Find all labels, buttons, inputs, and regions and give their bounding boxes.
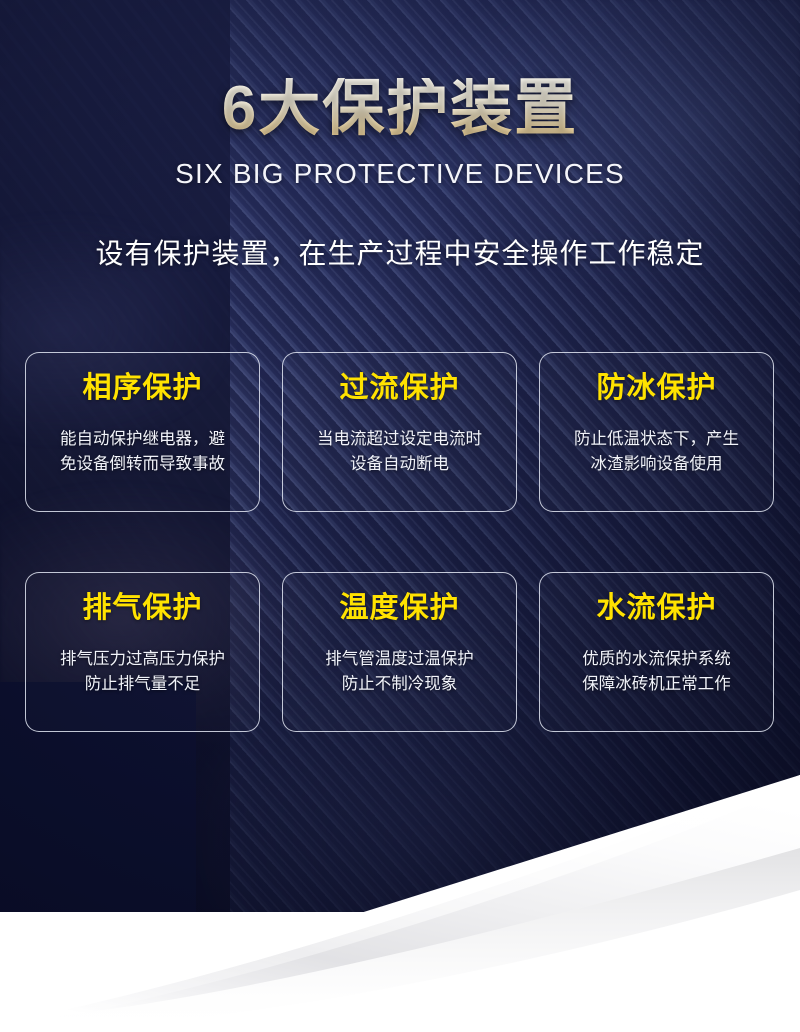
feature-card-description: 能自动保护继电器，避 免设备倒转而导致事故 — [52, 427, 233, 478]
promo-page: 6大保护装置 SIX BIG PROTECTIVE DEVICES 设有保护装置… — [0, 0, 800, 1032]
feature-card[interactable]: 排气保护 排气压力过高压力保护 防止排气量不足 — [25, 572, 260, 732]
feature-card[interactable]: 温度保护 排气管温度过温保护 防止不制冷现象 — [282, 572, 517, 732]
feature-card-title: 水流保护 — [596, 593, 716, 625]
feature-card[interactable]: 过流保护 当电流超过设定电流时 设备自动断电 — [282, 352, 517, 512]
feature-card-description: 防止低温状态下，产生 冰渣影响设备使用 — [566, 427, 747, 478]
page-tagline: 设有保护装置，在生产过程中安全操作工作稳定 — [0, 232, 800, 272]
feature-card-grid: 相序保护 能自动保护继电器，避 免设备倒转而导致事故 过流保护 当电流超过设定电… — [25, 352, 775, 732]
page-subtitle-english: SIX BIG PROTECTIVE DEVICES — [0, 158, 800, 190]
feature-card-title: 温度保护 — [339, 593, 459, 625]
feature-card-title: 防冰保护 — [596, 373, 716, 405]
feature-card-title: 排气保护 — [82, 593, 202, 625]
feature-card[interactable]: 相序保护 能自动保护继电器，避 免设备倒转而导致事故 — [25, 352, 260, 512]
feature-card-description: 排气管温度过温保护 防止不制冷现象 — [317, 647, 482, 698]
feature-card-title: 过流保护 — [339, 373, 459, 405]
feature-card-description: 排气压力过高压力保护 防止排气量不足 — [52, 647, 233, 698]
page-title: 6大保护装置 — [0, 78, 800, 140]
feature-card-description: 优质的水流保护系统 保障冰砖机正常工作 — [574, 647, 739, 698]
feature-card-description: 当电流超过设定电流时 设备自动断电 — [309, 427, 490, 478]
feature-card[interactable]: 防冰保护 防止低温状态下，产生 冰渣影响设备使用 — [539, 352, 774, 512]
feature-card[interactable]: 水流保护 优质的水流保护系统 保障冰砖机正常工作 — [539, 572, 774, 732]
header: 6大保护装置 SIX BIG PROTECTIVE DEVICES 设有保护装置… — [0, 0, 800, 272]
feature-card-title: 相序保护 — [82, 373, 202, 405]
